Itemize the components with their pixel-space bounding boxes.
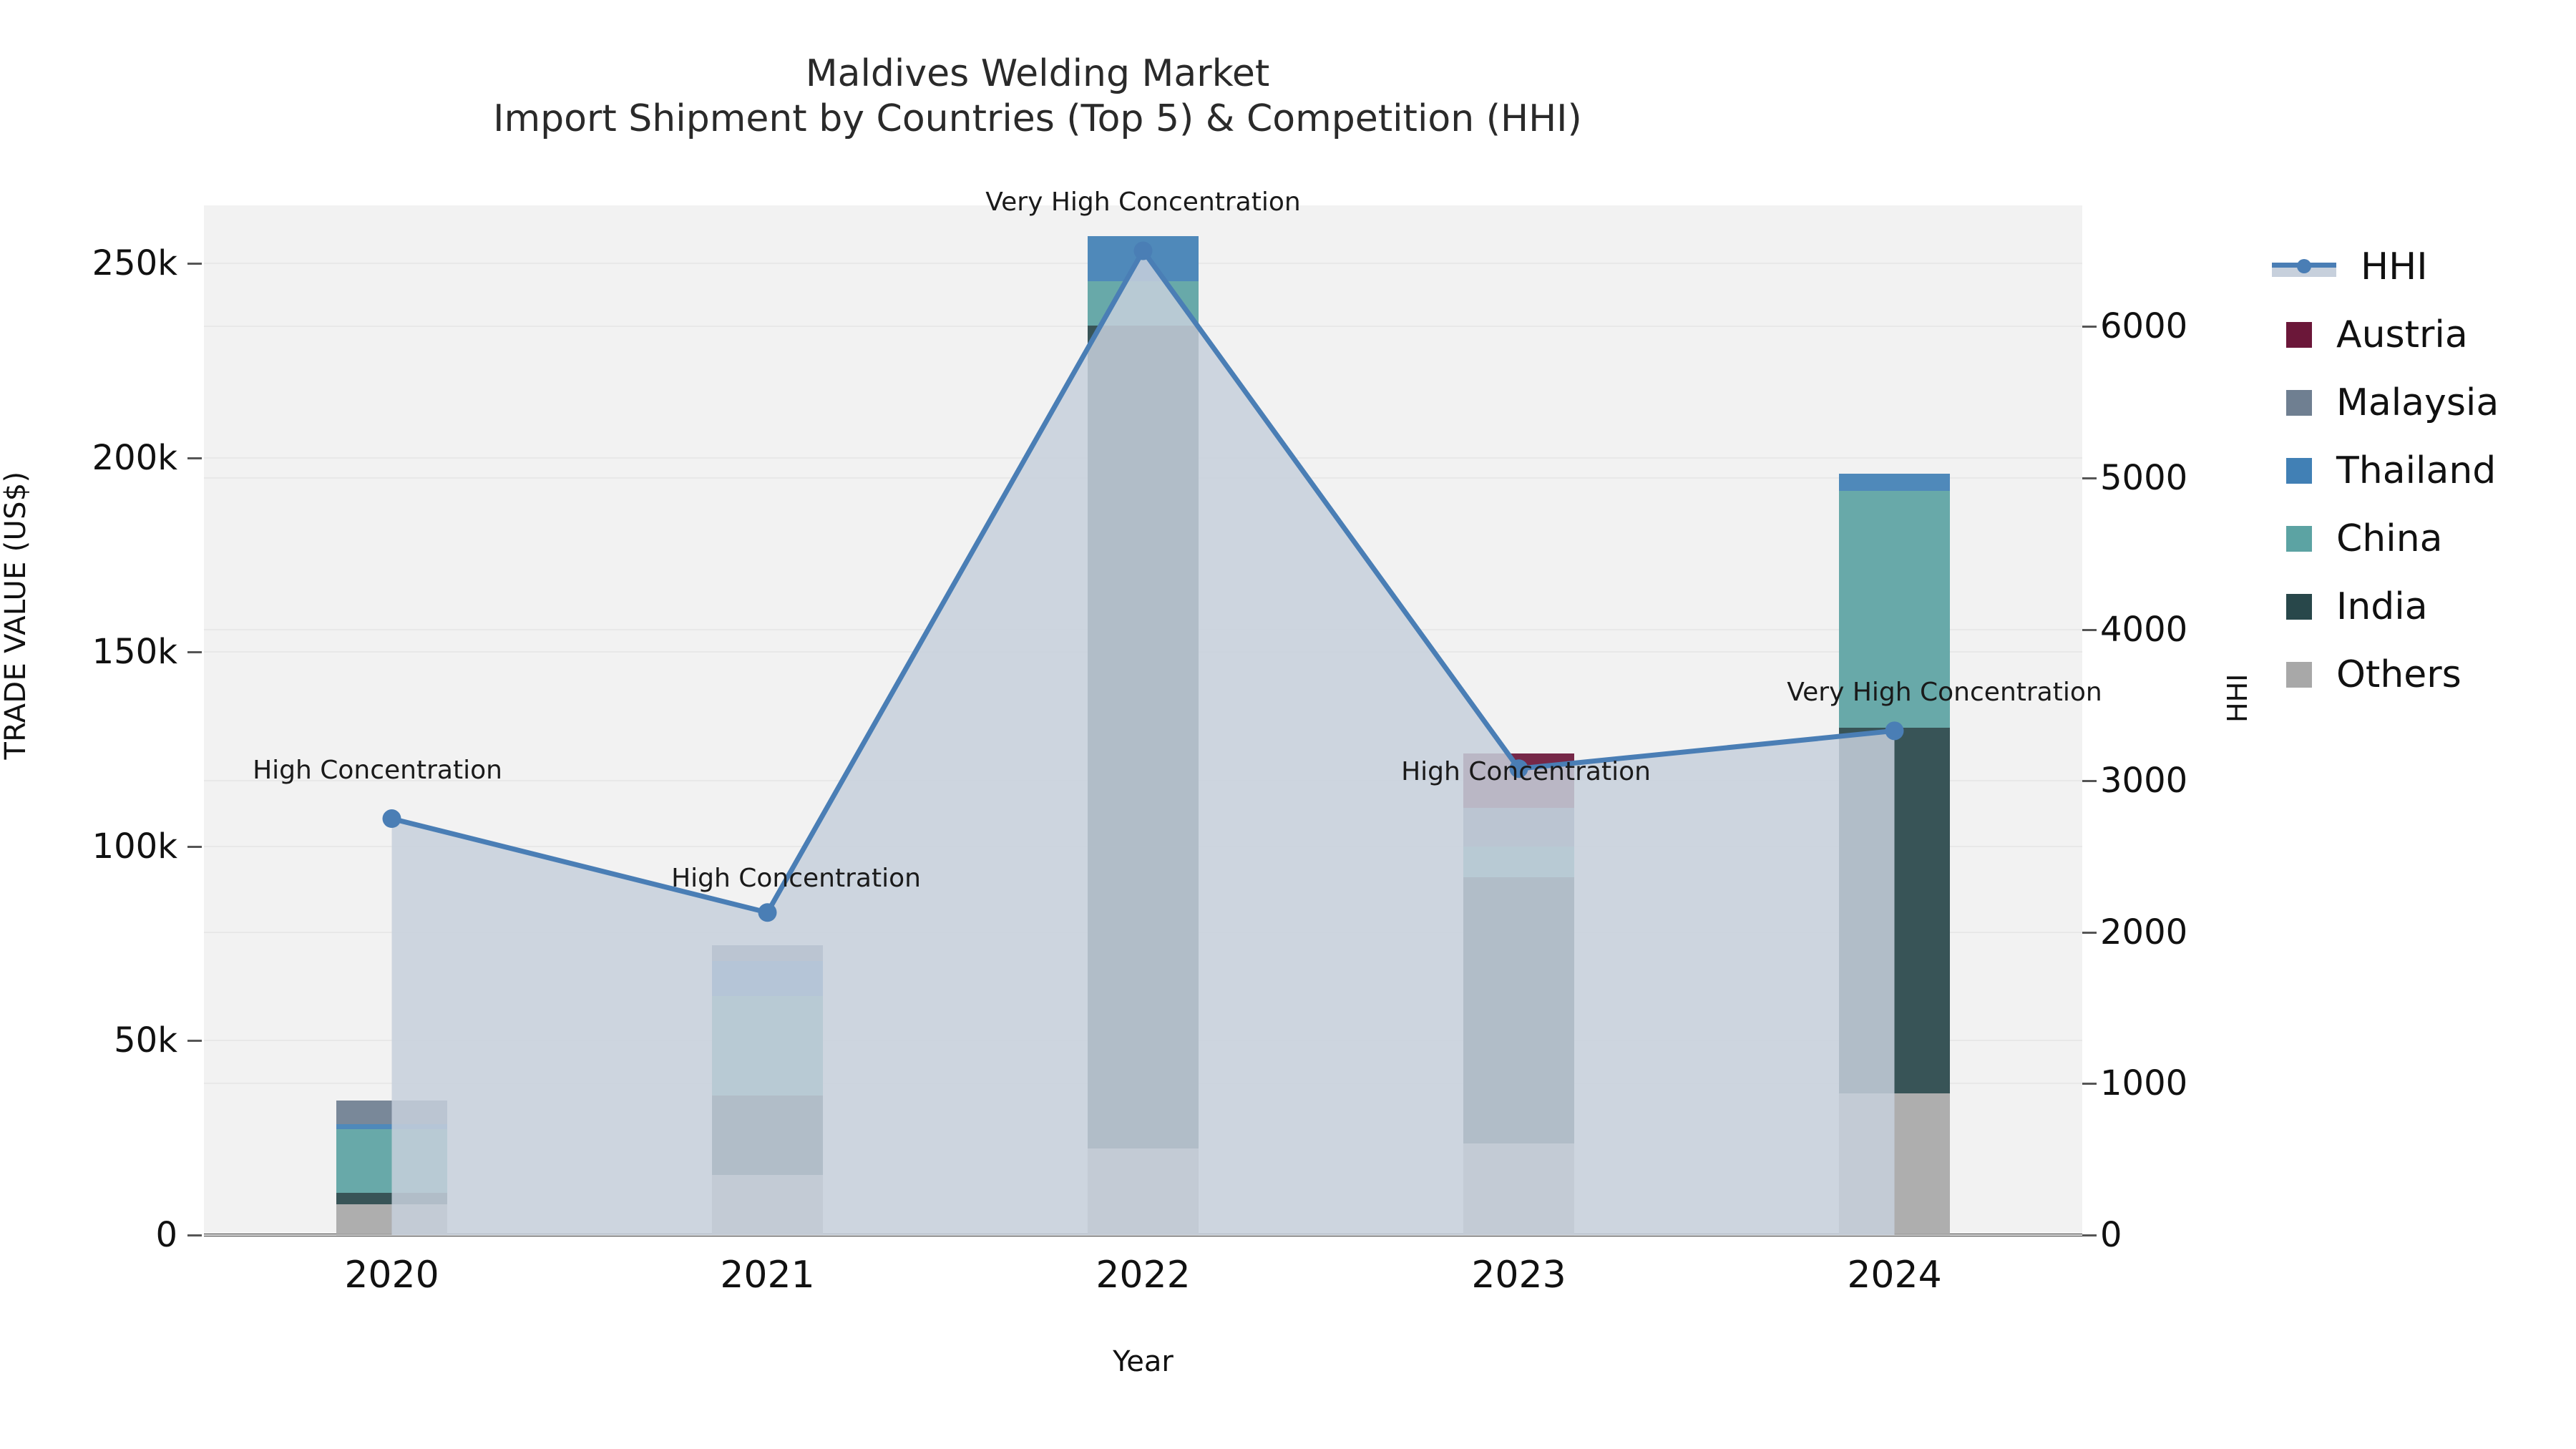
hhi-annotation: High Concentration [253, 756, 502, 785]
legend-label: Malaysia [2336, 381, 2499, 424]
legend-color-swatch [2286, 322, 2312, 348]
bar-segment[interactable] [336, 1204, 447, 1235]
legend-label: Others [2336, 653, 2462, 696]
chart-title-line-1: Maldives Welding Market [0, 52, 2075, 97]
y-axis-left-tickmark [187, 457, 202, 459]
y-axis-right-tickmark [2082, 932, 2097, 934]
y-axis-left-label: TRADE VALUE (US$) [0, 472, 32, 760]
legend-label: HHI [2361, 245, 2428, 288]
chart-legend[interactable]: HHIAustriaMalaysiaThailandChinaIndiaOthe… [2272, 233, 2499, 708]
bar-segment[interactable] [336, 1193, 447, 1204]
bar-segment[interactable] [1839, 1093, 1950, 1235]
y-axis-left-tickmark [187, 846, 202, 848]
legend-label: India [2336, 585, 2428, 628]
bar-segment[interactable] [1088, 281, 1199, 326]
legend-color-swatch [2286, 662, 2312, 688]
y-axis-right-label: HHI [2222, 674, 2253, 723]
hhi-annotation: High Concentration [671, 864, 921, 893]
y-axis-left-tickmark [187, 651, 202, 653]
chart-title: Maldives Welding Market Import Shipment … [0, 52, 2075, 142]
bar-segment[interactable] [1088, 1148, 1199, 1235]
legend-item-austria[interactable]: Austria [2272, 301, 2499, 369]
x-axis-tick: 2022 [1096, 1254, 1190, 1297]
y-axis-right-tick: 0 [2100, 1215, 2122, 1255]
y-axis-left-tick: 0 [0, 1215, 177, 1255]
y-axis-right-tickmark [2082, 780, 2097, 782]
legend-item-china[interactable]: China [2272, 504, 2499, 572]
legend-item-malaysia[interactable]: Malaysia [2272, 369, 2499, 436]
y-axis-right-tick: 1000 [2100, 1063, 2187, 1103]
bar-segment[interactable] [1463, 877, 1574, 1143]
bar-segment[interactable] [336, 1101, 447, 1125]
y-axis-left-tickmark [187, 1040, 202, 1042]
y-axis-right-tick: 6000 [2100, 306, 2187, 346]
x-axis-tick: 2023 [1471, 1254, 1566, 1297]
bar-segment[interactable] [336, 1129, 447, 1194]
y-axis-left-tick: 250k [0, 243, 177, 283]
chart-title-line-2: Import Shipment by Countries (Top 5) & C… [0, 97, 2075, 142]
legend-label: Austria [2336, 313, 2468, 356]
bar-segment[interactable] [712, 945, 823, 961]
y-axis-left-tickmark [187, 263, 202, 265]
bar-segment[interactable] [1088, 326, 1199, 1148]
bar-segment[interactable] [1463, 1143, 1574, 1235]
bar-segment[interactable] [1839, 474, 1950, 491]
x-axis-tick: 2020 [344, 1254, 439, 1297]
y-axis-left-tick: 200k [0, 438, 177, 478]
y-axis-left-tick: 100k [0, 826, 177, 867]
y-axis-right-tickmark [2082, 1083, 2097, 1085]
legend-label: China [2336, 517, 2443, 560]
bar-segment[interactable] [1088, 236, 1199, 280]
bar-segment[interactable] [1463, 847, 1574, 877]
bar-segment[interactable] [712, 996, 823, 1095]
y-axis-right-tick: 3000 [2100, 761, 2187, 801]
legend-color-swatch [2286, 390, 2312, 416]
hhi-annotation: Very High Concentration [1787, 678, 2102, 707]
y-axis-right-tick: 2000 [2100, 912, 2187, 952]
y-axis-left-tickmark [187, 1234, 202, 1236]
legend-color-swatch [2286, 526, 2312, 552]
legend-item-hhi[interactable]: HHI [2272, 233, 2499, 301]
y-axis-right-tick: 5000 [2100, 458, 2187, 498]
legend-item-others[interactable]: Others [2272, 640, 2499, 708]
bar-segment[interactable] [1839, 728, 1950, 1093]
bar-segment[interactable] [712, 1175, 823, 1235]
bar-segment[interactable] [336, 1124, 447, 1129]
hhi-annotation: High Concentration [1401, 757, 1651, 786]
x-axis-label: Year [0, 1345, 2286, 1378]
bar-segment[interactable] [712, 961, 823, 996]
x-axis-tick: 2021 [720, 1254, 814, 1297]
legend-label: Thailand [2336, 449, 2496, 492]
y-axis-right-tickmark [2082, 326, 2097, 328]
x-axis-tick: 2024 [1847, 1254, 1941, 1297]
y-axis-right-tickmark [2082, 629, 2097, 631]
legend-line-marker [2272, 254, 2336, 280]
y-axis-right-tickmark [2082, 477, 2097, 479]
y-axis-left-tick: 50k [0, 1020, 177, 1060]
bar-segment[interactable] [712, 1096, 823, 1175]
y-axis-right-tick: 4000 [2100, 610, 2187, 650]
y-axis-left-tick: 150k [0, 632, 177, 672]
legend-item-india[interactable]: India [2272, 572, 2499, 640]
legend-point-marker [2297, 259, 2311, 273]
legend-item-thailand[interactable]: Thailand [2272, 436, 2499, 504]
legend-color-swatch [2286, 594, 2312, 620]
hhi-annotation: Very High Concentration [985, 187, 1300, 217]
legend-color-swatch [2286, 458, 2312, 484]
bar-segment[interactable] [1463, 808, 1574, 847]
y-axis-right-tickmark [2082, 1234, 2097, 1236]
